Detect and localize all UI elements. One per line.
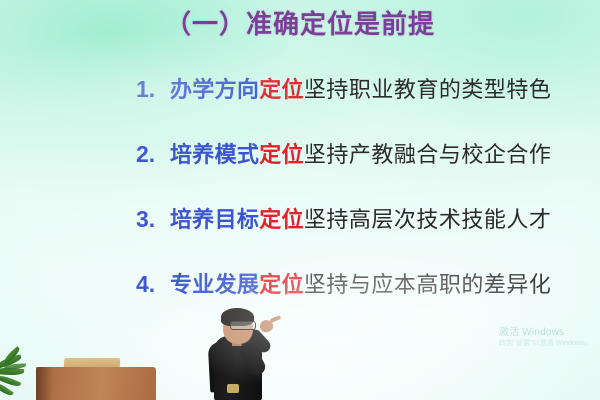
list-item-body-segment: 坚持高层次技术技能人才 [304, 207, 552, 232]
list-item-red-keyword: 定位 [259, 207, 304, 232]
potted-plant [0, 352, 38, 400]
list-item-text: 办学方向定位坚持职业教育的类型特色 [170, 74, 551, 105]
list-item-blue-segment: 培养模式 [170, 142, 259, 167]
podium [16, 358, 164, 400]
list-item-blue-segment: 培养目标 [170, 207, 259, 232]
list-item-text: 专业发展定位坚持与应本高职的差异化 [170, 269, 551, 300]
list-item-blue-segment: 办学方向 [170, 77, 259, 102]
list-item-text: 培养目标定位坚持高层次技术技能人才 [170, 204, 551, 235]
list-item-text: 培养模式定位坚持产教融合与校企合作 [170, 139, 551, 170]
list-item-red-keyword: 定位 [259, 77, 304, 102]
list-item-red-keyword: 定位 [259, 272, 304, 297]
presentation-photo: （一）准确定位是前提 1. 办学方向定位坚持职业教育的类型特色 2. 培养模式定… [0, 0, 600, 400]
list-item-blue-segment: 专业发展 [170, 272, 259, 297]
list-item-body-segment: 坚持产教融合与校企合作 [304, 142, 552, 167]
list-item: 2. 培养模式定位坚持产教融合与校企合作 [136, 139, 566, 204]
list-item-number: 2. [136, 139, 170, 170]
list-item-number: 3. [136, 204, 170, 235]
list-item-body-segment: 坚持职业教育的类型特色 [304, 77, 552, 102]
presenter-badge [227, 384, 239, 393]
presenter-glasses [230, 321, 256, 330]
presenter-figure [196, 306, 300, 400]
presenter-pointing-finger [270, 315, 282, 323]
list-item: 3. 培养目标定位坚持高层次技术技能人才 [136, 204, 566, 269]
podium-body [36, 367, 156, 400]
list-item-red-keyword: 定位 [259, 142, 304, 167]
list-item-number: 1. [136, 74, 170, 105]
podium-side-shadow [36, 367, 52, 400]
slide-bullet-list: 1. 办学方向定位坚持职业教育的类型特色 2. 培养模式定位坚持产教融合与校企合… [136, 74, 566, 334]
list-item-body-segment: 坚持与应本高职的差异化 [304, 272, 552, 297]
slide-title: （一）准确定位是前提 [0, 4, 600, 44]
list-item-number: 4. [136, 269, 170, 300]
list-item: 1. 办学方向定位坚持职业教育的类型特色 [136, 74, 566, 139]
